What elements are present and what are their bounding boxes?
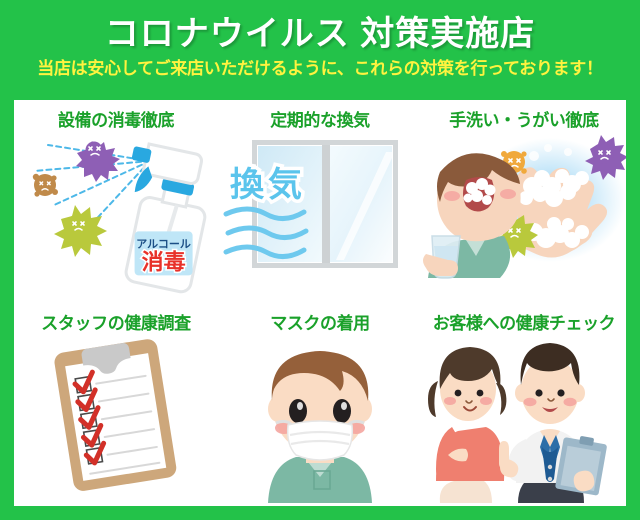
- panel-staff-health-survey: スタッフの健康調査: [14, 303, 218, 506]
- panel-mask-wearing: マスクの着用: [218, 303, 422, 506]
- illustration-woman-and-doctor: [422, 331, 626, 506]
- illustration-clipboard: [14, 331, 218, 506]
- panel-disinfection: 設備の消毒徹底: [14, 100, 218, 303]
- poster-root: コロナウイルス 対策実施店 当店は安心してご来店いただけるように、これらの対策を…: [0, 0, 640, 520]
- panel-handwashing: 手洗い・うがい徹底: [422, 100, 626, 303]
- panel-customer-health-check: お客様への健康チェック: [422, 303, 626, 506]
- germ-brown-icon: [33, 174, 58, 197]
- illustration-handwashing: [422, 128, 626, 303]
- content-board: 設備の消毒徹底: [14, 100, 626, 506]
- illustration-spray-bottle: アルコール 消毒: [14, 128, 218, 303]
- woman-figure-icon: [428, 347, 506, 503]
- doctor-figure-icon: [499, 343, 608, 503]
- measures-row-1: 設備の消毒徹底: [14, 100, 626, 303]
- germ-green-icon: [54, 205, 107, 257]
- bottle-label-large: 消毒: [142, 249, 186, 274]
- germ-purple-icon: [76, 141, 120, 182]
- ventilation-overlay-text: 換気: [230, 166, 306, 204]
- illustration-masked-person: [218, 331, 422, 506]
- face-mask-icon: [276, 421, 364, 460]
- page-subtitle: 当店は安心してご来店いただけるように、これらの対策を行っております！: [0, 58, 640, 80]
- poster-header: コロナウイルス 対策実施店 当店は安心してご来店いただけるように、これらの対策を…: [0, 0, 640, 100]
- illustration-window: 換気: [218, 128, 422, 303]
- masked-person-icon: [268, 351, 372, 503]
- panel-ventilation: 定期的な換気: [218, 100, 422, 303]
- page-title: コロナウイルス 対策実施店: [0, 12, 640, 56]
- measures-row-2: スタッフの健康調査: [14, 303, 626, 506]
- clipboard-shape: [53, 338, 178, 493]
- man-gargling-icon: [423, 153, 521, 278]
